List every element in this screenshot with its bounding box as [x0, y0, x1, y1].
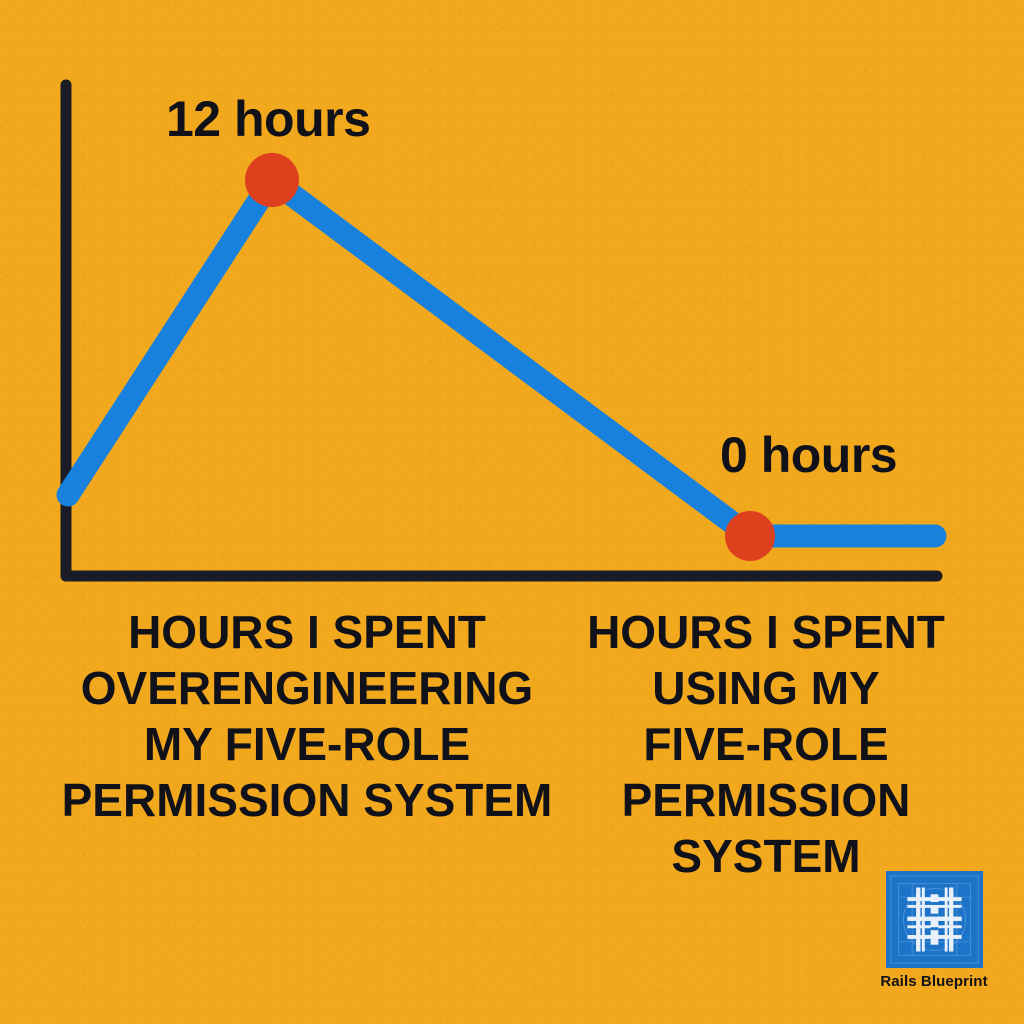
line-chart [0, 0, 1024, 600]
caption-right: Hours I spent using my five-role permiss… [556, 604, 976, 884]
data-point-peak [245, 153, 299, 207]
caption-left: Hours I spent overengineering my five-ro… [52, 604, 562, 828]
data-point-floor [725, 511, 775, 561]
peak-value-label: 12 hours [166, 94, 370, 144]
brand-watermark: Rails Blueprint [880, 871, 988, 989]
floor-value-label: 0 hours [720, 430, 897, 480]
railroad-track-blueprint-icon [886, 871, 983, 968]
meme-image: 12 hours 0 hours Hours I spent overengin… [0, 0, 1024, 1024]
brand-name: Rails Blueprint [880, 974, 987, 989]
